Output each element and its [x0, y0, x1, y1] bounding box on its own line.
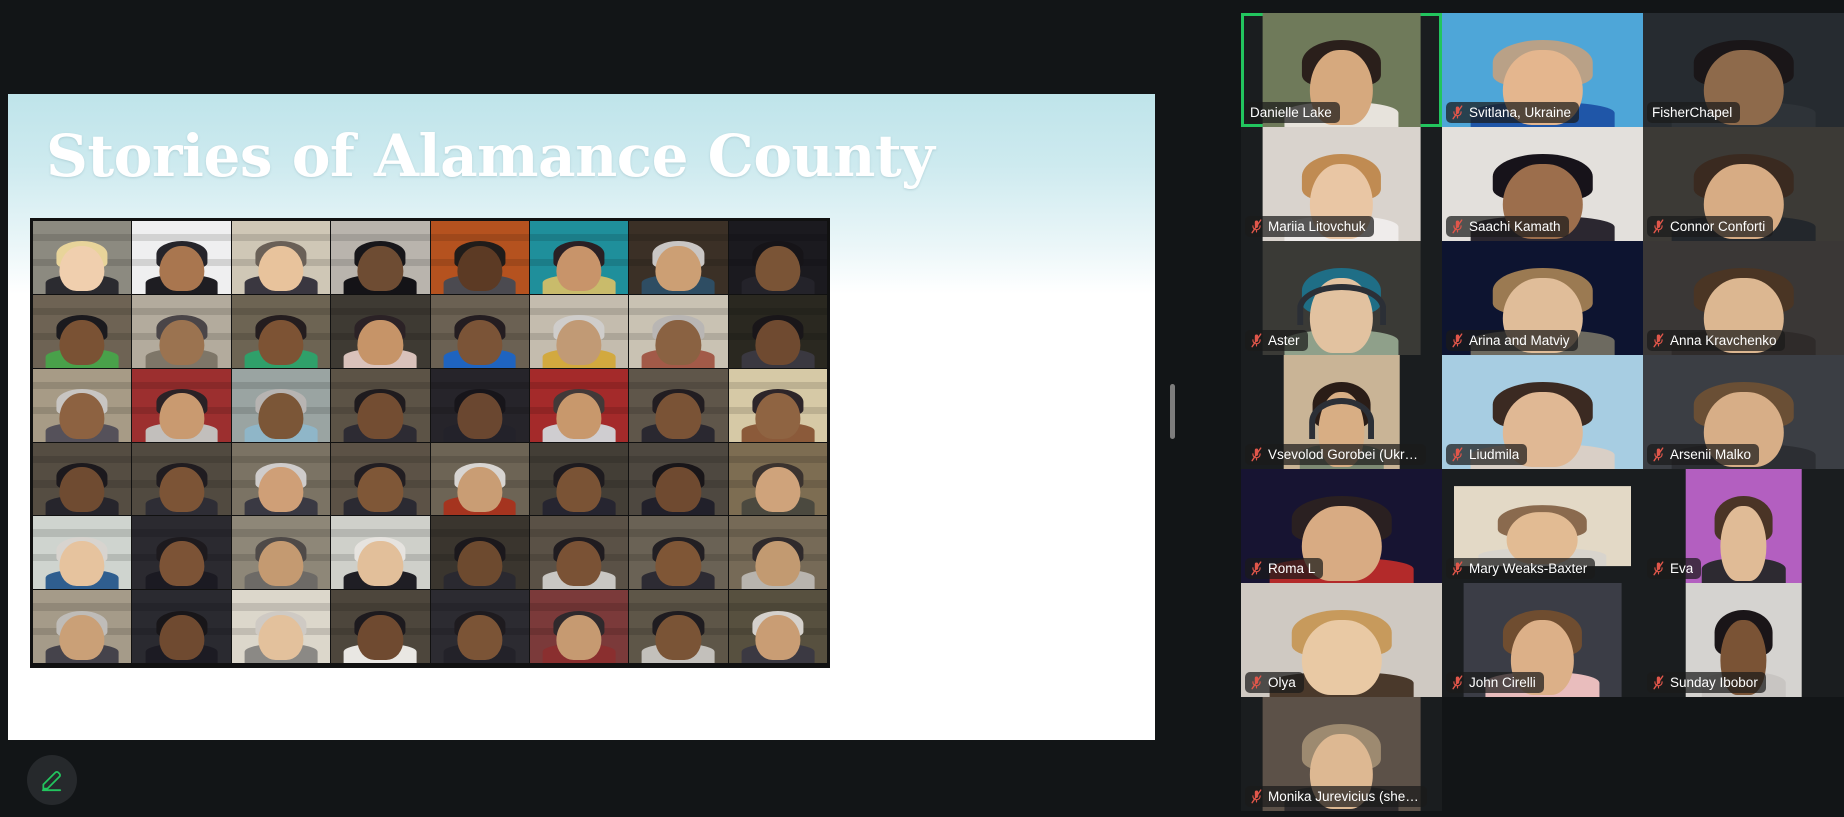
portrait-backdrop-band	[729, 456, 827, 463]
portrait-face	[556, 246, 601, 291]
portrait-face	[755, 615, 800, 660]
portrait-backdrop-band	[33, 234, 131, 241]
portrait-backdrop-band	[232, 603, 330, 610]
collage-portrait	[530, 516, 628, 589]
portrait-face	[258, 393, 303, 438]
portrait-backdrop-band	[33, 529, 131, 536]
mic-muted-icon	[1451, 219, 1464, 234]
mic-muted-icon	[1652, 675, 1665, 690]
portrait-face	[159, 393, 204, 438]
portrait-backdrop-band	[33, 603, 131, 610]
participant-name-badge: Sunday Ibobor	[1647, 672, 1766, 693]
collage-portrait	[431, 590, 529, 663]
participant-tile[interactable]: Svitlana, Ukraine	[1442, 13, 1643, 127]
participant-tile[interactable]: Vsevolod Gorobei (Ukr…	[1241, 355, 1442, 469]
portrait-backdrop-band	[629, 529, 727, 536]
portrait-backdrop-band	[132, 529, 230, 536]
collage-portrait	[132, 443, 230, 516]
collage-portrait	[431, 443, 529, 516]
collage-portrait	[530, 295, 628, 368]
participant-name-label: Arsenii Malko	[1670, 444, 1751, 465]
collage-portrait	[331, 369, 429, 442]
participant-name-label: Liudmila	[1469, 444, 1519, 465]
participant-name-badge: Connor Conforti	[1647, 216, 1773, 237]
collage-portrait	[132, 516, 230, 589]
annotate-button[interactable]	[27, 755, 77, 805]
portrait-face	[60, 246, 105, 291]
collage-portrait	[232, 590, 330, 663]
participant-tile[interactable]: Olya	[1241, 583, 1442, 697]
mic-muted-icon	[1652, 333, 1665, 348]
mic-muted-icon	[1652, 219, 1665, 234]
shared-content-scrollbar[interactable]	[1168, 94, 1177, 740]
portrait-backdrop-band	[331, 456, 429, 463]
participant-name-label: Eva	[1670, 558, 1693, 579]
portrait-backdrop-band	[33, 456, 131, 463]
portrait-face	[159, 467, 204, 512]
participant-name-label: Mary Weaks-Baxter	[1469, 558, 1587, 579]
portrait-face	[755, 393, 800, 438]
portrait-face	[159, 615, 204, 660]
portrait-face	[755, 320, 800, 365]
portrait-backdrop-band	[132, 382, 230, 389]
mic-muted-icon	[1451, 561, 1464, 576]
collage-portrait	[331, 295, 429, 368]
portrait-backdrop-band	[629, 308, 727, 315]
portrait-face	[755, 246, 800, 291]
portrait-backdrop-band	[232, 308, 330, 315]
portrait-face	[556, 393, 601, 438]
portrait-face	[258, 320, 303, 365]
portrait-face	[159, 246, 204, 291]
participant-name-label: Anna Kravchenko	[1670, 330, 1777, 351]
participant-tile[interactable]: Aster	[1241, 241, 1442, 355]
portrait-backdrop-band	[331, 529, 429, 536]
participant-name-badge: Eva	[1647, 558, 1701, 579]
portrait-face	[556, 467, 601, 512]
portrait-face	[358, 467, 403, 512]
participant-name-badge: Monika Jurevicius (she…	[1245, 786, 1427, 807]
mic-muted-icon	[1250, 675, 1263, 690]
participant-name-badge: Arina and Matviy	[1446, 330, 1578, 351]
portrait-face	[656, 393, 701, 438]
portrait-face	[60, 320, 105, 365]
participant-name-label: Monika Jurevicius (she…	[1268, 786, 1419, 807]
portrait-face	[556, 320, 601, 365]
participant-name-label: John Cirelli	[1469, 672, 1536, 693]
participant-face	[1507, 512, 1578, 565]
participant-name-label: Saachi Kamath	[1469, 216, 1561, 237]
participant-name-label: Aster	[1268, 330, 1300, 351]
collage-portrait	[132, 221, 230, 294]
mic-muted-icon	[1250, 219, 1263, 234]
collage-portrait	[629, 590, 727, 663]
participant-name-label: Arina and Matviy	[1469, 330, 1570, 351]
portrait-backdrop-band	[530, 234, 628, 241]
participant-name-badge: Vsevolod Gorobei (Ukr…	[1245, 444, 1426, 465]
portrait-backdrop-band	[431, 382, 529, 389]
mic-muted-icon	[1250, 447, 1263, 462]
portrait-face	[656, 246, 701, 291]
portrait-backdrop-band	[729, 603, 827, 610]
participant-name-label: Olya	[1268, 672, 1296, 693]
participant-video	[1454, 486, 1631, 566]
participant-name-badge: Anna Kravchenko	[1647, 330, 1785, 351]
participant-name-badge: Roma L	[1245, 558, 1323, 579]
portrait-face	[60, 615, 105, 660]
portrait-face	[457, 393, 502, 438]
collage-portrait	[331, 516, 429, 589]
mic-muted-icon	[1250, 333, 1263, 348]
participant-grid: Danielle LakeSvitlana, UkraineFisherChap…	[1241, 13, 1844, 811]
collage-portrait	[132, 590, 230, 663]
portrait-backdrop-band	[431, 234, 529, 241]
portrait-face	[258, 615, 303, 660]
collage-portrait	[331, 443, 429, 516]
headphones	[1297, 284, 1386, 325]
portrait-face	[457, 541, 502, 586]
portrait-backdrop-band	[629, 456, 727, 463]
pencil-icon	[39, 767, 65, 793]
portrait-face	[755, 467, 800, 512]
collage-portrait	[729, 516, 827, 589]
collage-portrait	[530, 590, 628, 663]
portrait-backdrop-band	[729, 234, 827, 241]
shared-screen-stage: Stories of Alamance County	[0, 0, 1240, 817]
mic-muted-icon	[1652, 561, 1665, 576]
collage-portrait	[431, 369, 529, 442]
portrait-backdrop-band	[232, 529, 330, 536]
collage-portrait	[132, 369, 230, 442]
participant-video	[1685, 469, 1802, 583]
participant-name-badge: Danielle Lake	[1245, 102, 1340, 123]
participant-tile[interactable]: Eva	[1643, 469, 1844, 583]
collage-portrait	[232, 369, 330, 442]
collage-portrait	[132, 295, 230, 368]
participant-collage-image	[30, 218, 830, 668]
portrait-backdrop-band	[232, 382, 330, 389]
participant-tile[interactable]: Anna Kravchenko	[1643, 241, 1844, 355]
collage-portrait	[629, 221, 727, 294]
portrait-backdrop-band	[530, 529, 628, 536]
participant-tile[interactable]: Sunday Ibobor	[1643, 583, 1844, 697]
participant-name-badge: Aster	[1245, 330, 1308, 351]
portrait-face	[457, 320, 502, 365]
collage-portrait	[629, 295, 727, 368]
portrait-face	[159, 320, 204, 365]
participant-name-badge: Svitlana, Ukraine	[1446, 102, 1579, 123]
portrait-backdrop-band	[232, 456, 330, 463]
mic-muted-icon	[1451, 333, 1464, 348]
participant-tile[interactable]: Liudmila	[1442, 355, 1643, 469]
portrait-backdrop-band	[331, 603, 429, 610]
portrait-backdrop-band	[431, 529, 529, 536]
participant-name-label: Connor Conforti	[1670, 216, 1765, 237]
portrait-backdrop-band	[132, 234, 230, 241]
collage-portrait	[33, 516, 131, 589]
participant-tile[interactable]: Mariia Litovchuk	[1241, 127, 1442, 241]
portrait-face	[457, 615, 502, 660]
participant-name-badge: John Cirelli	[1446, 672, 1544, 693]
portrait-face	[358, 320, 403, 365]
portrait-backdrop-band	[530, 603, 628, 610]
participant-tile[interactable]: Danielle Lake	[1241, 13, 1442, 127]
portrait-backdrop-band	[331, 234, 429, 241]
participant-tile[interactable]: Roma L	[1241, 469, 1442, 583]
collage-portrait	[33, 295, 131, 368]
participant-tile[interactable]: Arina and Matviy	[1442, 241, 1643, 355]
collage-portrait	[232, 295, 330, 368]
portrait-face	[258, 467, 303, 512]
participant-filmstrip[interactable]: Danielle LakeSvitlana, UkraineFisherChap…	[1240, 0, 1844, 817]
portrait-face	[60, 541, 105, 586]
collage-portrait	[729, 443, 827, 516]
portrait-backdrop-band	[331, 382, 429, 389]
portrait-backdrop-band	[629, 382, 727, 389]
participant-tile[interactable]: Connor Conforti	[1643, 127, 1844, 241]
mic-muted-icon	[1250, 789, 1263, 804]
participant-tile[interactable]: FisherChapel	[1643, 13, 1844, 127]
portrait-backdrop-band	[729, 529, 827, 536]
participant-tile[interactable]: John Cirelli	[1442, 583, 1643, 697]
collage-portrait	[331, 221, 429, 294]
participant-name-badge: Arsenii Malko	[1647, 444, 1759, 465]
portrait-backdrop-band	[629, 234, 727, 241]
portrait-face	[556, 615, 601, 660]
mic-muted-icon	[1451, 105, 1464, 120]
portrait-backdrop-band	[431, 308, 529, 315]
collage-portrait	[232, 221, 330, 294]
collage-portrait	[729, 221, 827, 294]
portrait-backdrop-band	[729, 382, 827, 389]
collage-portrait	[33, 443, 131, 516]
portrait-face	[358, 246, 403, 291]
portrait-face	[258, 541, 303, 586]
participant-tile[interactable]: Saachi Kamath	[1442, 127, 1643, 241]
collage-portrait	[431, 516, 529, 589]
mic-muted-icon	[1652, 447, 1665, 462]
scrollbar-thumb[interactable]	[1170, 384, 1175, 439]
collage-portrait	[431, 221, 529, 294]
participant-name-label: Roma L	[1268, 558, 1315, 579]
collage-portrait	[530, 221, 628, 294]
participant-name-label: Danielle Lake	[1250, 102, 1332, 123]
portrait-backdrop-band	[431, 603, 529, 610]
participant-name-badge: FisherChapel	[1647, 102, 1740, 123]
mic-muted-icon	[1451, 447, 1464, 462]
portrait-face	[556, 541, 601, 586]
shared-presentation[interactable]: Stories of Alamance County	[8, 94, 1155, 740]
portrait-backdrop-band	[530, 308, 628, 315]
portrait-face	[60, 467, 105, 512]
participant-name-badge: Mariia Litovchuk	[1245, 216, 1374, 237]
participant-name-label: Sunday Ibobor	[1670, 672, 1758, 693]
collage-portrait	[331, 590, 429, 663]
portrait-face	[358, 393, 403, 438]
portrait-face	[656, 320, 701, 365]
slide-title: Stories of Alamance County	[46, 122, 934, 190]
portrait-backdrop-band	[331, 308, 429, 315]
collage-portrait	[33, 369, 131, 442]
portrait-face	[656, 467, 701, 512]
portrait-face	[656, 615, 701, 660]
portrait-face	[457, 467, 502, 512]
collage-portrait	[530, 443, 628, 516]
portrait-face	[159, 541, 204, 586]
collage-portrait	[33, 590, 131, 663]
mic-muted-icon	[1250, 561, 1263, 576]
collage-portrait	[232, 516, 330, 589]
portrait-backdrop-band	[33, 308, 131, 315]
portrait-backdrop-band	[33, 382, 131, 389]
portrait-backdrop-band	[132, 456, 230, 463]
portrait-face	[457, 246, 502, 291]
participant-name-badge: Liudmila	[1446, 444, 1527, 465]
participant-tile[interactable]: Arsenii Malko	[1643, 355, 1844, 469]
collage-portrait	[629, 516, 727, 589]
portrait-backdrop-band	[530, 382, 628, 389]
participant-face	[1301, 620, 1381, 695]
portrait-backdrop-band	[132, 603, 230, 610]
collage-portrait	[530, 369, 628, 442]
participant-tile[interactable]: Mary Weaks-Baxter	[1442, 469, 1643, 583]
portrait-backdrop-band	[729, 308, 827, 315]
collage-portrait	[729, 295, 827, 368]
participant-name-label: Svitlana, Ukraine	[1469, 102, 1571, 123]
portrait-backdrop-band	[629, 603, 727, 610]
participant-name-badge: Olya	[1245, 672, 1304, 693]
participant-tile[interactable]: Monika Jurevicius (she…	[1241, 697, 1442, 811]
collage-portrait	[629, 369, 727, 442]
participant-name-badge: Mary Weaks-Baxter	[1446, 558, 1595, 579]
participant-name-badge: Saachi Kamath	[1446, 216, 1569, 237]
portrait-face	[60, 393, 105, 438]
portrait-face	[358, 615, 403, 660]
mic-muted-icon	[1451, 675, 1464, 690]
collage-portrait	[431, 295, 529, 368]
portrait-face	[755, 541, 800, 586]
portrait-face	[656, 541, 701, 586]
participant-name-label: Vsevolod Gorobei (Ukr…	[1268, 444, 1418, 465]
collage-portrait	[232, 443, 330, 516]
portrait-backdrop-band	[132, 308, 230, 315]
collage-portrait	[729, 590, 827, 663]
portrait-face	[358, 541, 403, 586]
portrait-backdrop-band	[431, 456, 529, 463]
portrait-backdrop-band	[232, 234, 330, 241]
participant-face	[1720, 506, 1767, 581]
collage-portrait	[729, 369, 827, 442]
collage-portrait	[33, 221, 131, 294]
participant-name-label: Mariia Litovchuk	[1268, 216, 1366, 237]
video-conference-window: Stories of Alamance County Danielle Lake…	[0, 0, 1844, 817]
portrait-backdrop-band	[530, 456, 628, 463]
collage-portrait	[629, 443, 727, 516]
portrait-face	[258, 246, 303, 291]
participant-name-label: FisherChapel	[1652, 102, 1732, 123]
